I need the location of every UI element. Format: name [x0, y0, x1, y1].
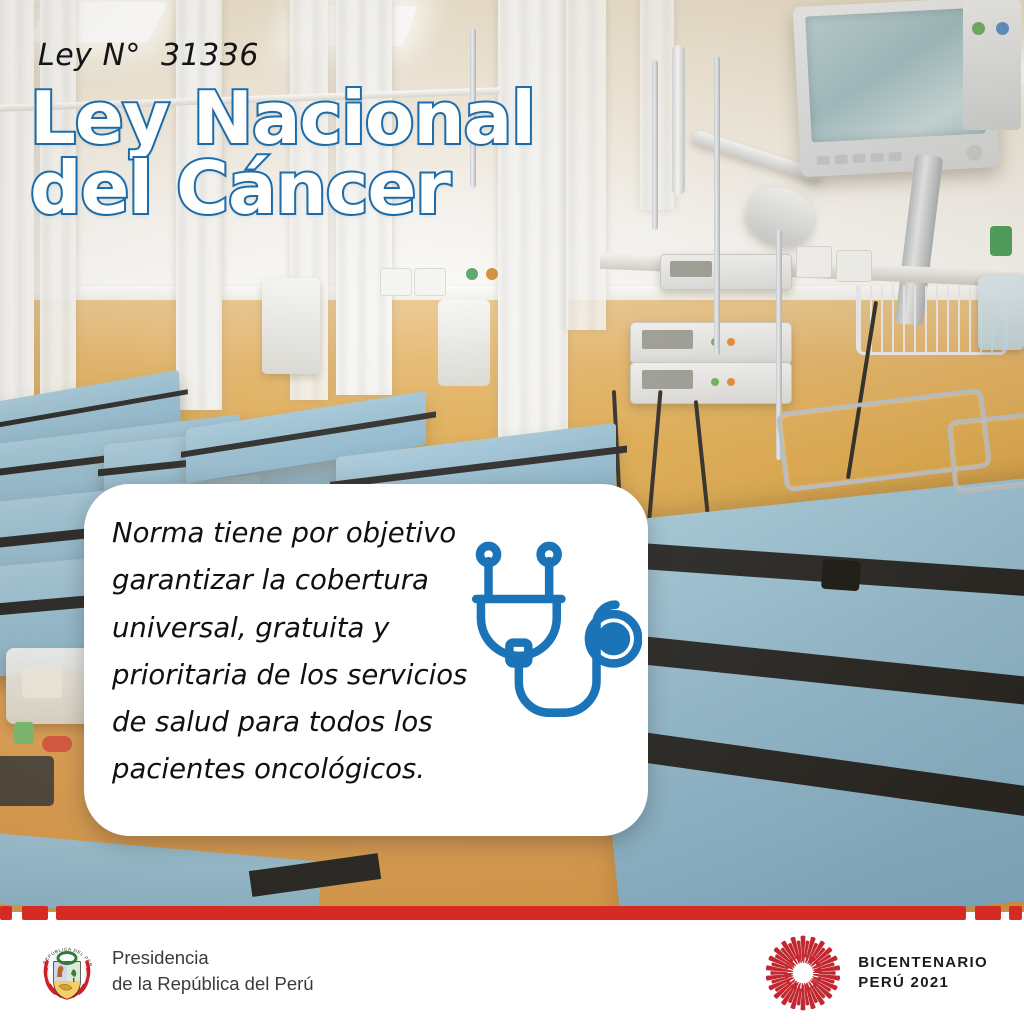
accent-dash [22, 906, 48, 920]
peru-coat-of-arms-icon: REPÚBLICA DEL PERÚ [36, 938, 98, 1004]
title-line-1: Ley Nacional [30, 84, 535, 154]
accent-dash [0, 906, 12, 920]
bicentenario-text: BICENTENARIO PERÚ 2021 [858, 953, 988, 994]
stethoscope-icon [462, 540, 642, 730]
bicentenario-line-2: PERÚ 2021 [858, 973, 988, 993]
accent-bar [56, 906, 966, 920]
bicentenario-lockup: {} BICENTENARIO PERÚ 2021 [764, 934, 988, 1012]
accent-rule [0, 906, 1024, 920]
title-line-2: del Cáncer [30, 154, 535, 224]
page-title: Ley Nacional del Cáncer [30, 84, 535, 224]
footer-bar: REPÚBLICA DEL PERÚ [0, 920, 1024, 1024]
law-number-label: Ley N° 31336 [38, 38, 259, 73]
bicentenario-line-1: BICENTENARIO [858, 953, 988, 973]
accent-dash [1009, 906, 1022, 920]
sunburst-ray-inner [801, 983, 803, 992]
message-card: Norma tiene por objetivo garantizar la c… [84, 484, 648, 836]
presidencia-line-2: de la República del Perú [112, 971, 314, 997]
poster-canvas: Ley N° 31336 Ley Nacional del Cáncer Nor… [0, 0, 1024, 1024]
bicentenario-sunburst-icon: {} [764, 934, 842, 1012]
presidencia-lockup: REPÚBLICA DEL PERÚ [36, 938, 314, 1004]
accent-dash [975, 906, 1001, 920]
sunburst-ray-inner [803, 954, 805, 963]
card-line: pacientes oncológicos. [112, 746, 542, 793]
presidencia-line-1: Presidencia [112, 945, 314, 971]
presidencia-text: Presidencia de la República del Perú [112, 945, 314, 996]
